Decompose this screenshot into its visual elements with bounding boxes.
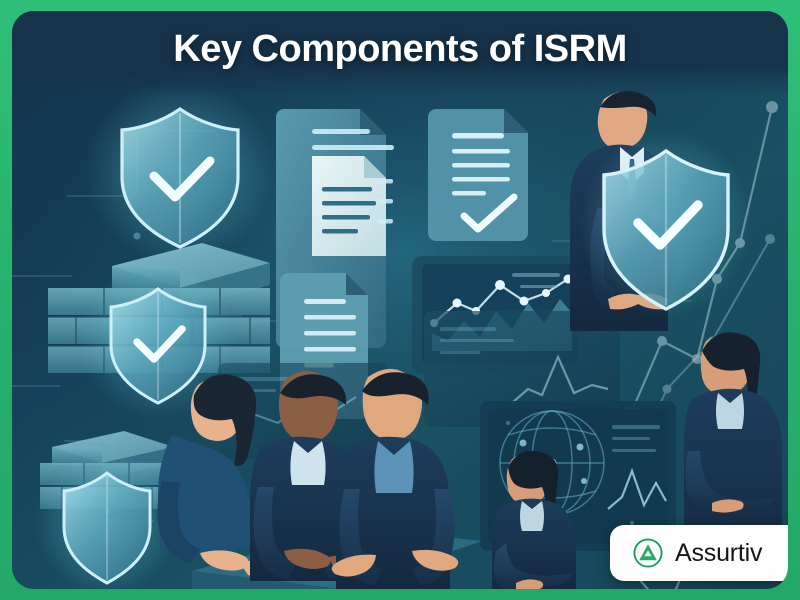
shield-check-held xyxy=(580,129,752,317)
shield-check-bottom-left xyxy=(35,451,179,589)
inner-dark-panel: Key Components of ISRM Assurtiv xyxy=(12,11,788,589)
shield-check-top-left xyxy=(85,79,275,263)
brand-badge[interactable]: Assurtiv xyxy=(610,525,788,581)
mountain-triangle-in-circle-icon xyxy=(632,537,664,569)
infographic-root: Key Components of ISRM Assurtiv xyxy=(0,0,800,600)
brand-name: Assurtiv xyxy=(675,541,762,566)
illustration-artwork xyxy=(12,11,788,589)
document-approved xyxy=(428,109,528,241)
page-title: Key Components of ISRM xyxy=(12,28,788,71)
